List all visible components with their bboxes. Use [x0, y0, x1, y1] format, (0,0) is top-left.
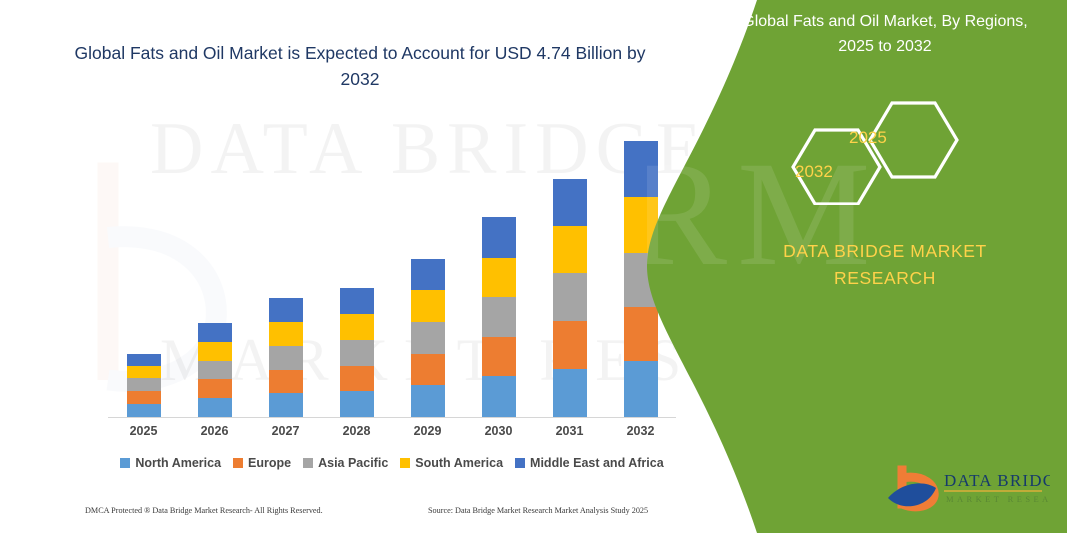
bar-segment-europe — [553, 321, 587, 369]
svg-text:MARKET RESEARCH: MARKET RESEARCH — [946, 494, 1050, 504]
bar-segment-north-america — [269, 393, 303, 417]
bar-segment-middle-east-and-africa — [127, 354, 161, 366]
footer: DMCA Protected ® Data Bridge Market Rese… — [0, 506, 700, 528]
bar-segment-europe — [198, 379, 232, 398]
bar-segment-north-america — [411, 385, 445, 417]
bar-segment-north-america — [198, 398, 232, 417]
legend-label: Europe — [248, 456, 291, 470]
legend-label: Asia Pacific — [318, 456, 388, 470]
bar-segment-middle-east-and-africa — [340, 288, 374, 314]
stacked-bar — [340, 288, 374, 417]
bar-segment-north-america — [553, 369, 587, 418]
chart-pane: DATA BRIDGE MARKET RESEARCH Global Fats … — [0, 0, 720, 533]
legend-label: Middle East and Africa — [530, 456, 664, 470]
bar-column-2031 — [534, 120, 605, 417]
bar-segment-europe — [269, 370, 303, 394]
bar-segment-middle-east-and-africa — [411, 259, 445, 291]
stacked-bar — [553, 179, 587, 417]
bar-column-2030 — [463, 120, 534, 417]
hexagon-2032-label: 2032 — [795, 162, 833, 182]
bar-column-2026 — [179, 120, 250, 417]
bar-segment-south-america — [340, 314, 374, 340]
legend-swatch-icon — [233, 458, 243, 468]
legend-swatch-icon — [400, 458, 410, 468]
hexagon-2025-label: 2025 — [849, 128, 887, 148]
legend-item-middle-east-and-africa[interactable]: Middle East and Africa — [515, 456, 664, 470]
hexagon-group — [767, 95, 1047, 205]
bar-segment-europe — [411, 354, 445, 386]
bar-segment-south-america — [198, 342, 232, 361]
bar-segment-europe — [127, 391, 161, 404]
legend-swatch-icon — [120, 458, 130, 468]
x-axis-label-2029: 2029 — [392, 424, 463, 444]
stacked-bar — [127, 354, 161, 417]
data-bridge-logo: DATA BRIDGE MARKET RESEARCH — [880, 460, 1050, 516]
bar-segment-asia-pacific — [553, 273, 587, 321]
bar-column-2029 — [392, 120, 463, 417]
bar-segment-asia-pacific — [198, 361, 232, 380]
legend-item-south-america[interactable]: South America — [400, 456, 503, 470]
x-axis-label-2028: 2028 — [321, 424, 392, 444]
chart-legend: North AmericaEuropeAsia PacificSouth Ame… — [100, 456, 684, 470]
bar-segment-asia-pacific — [127, 378, 161, 391]
x-axis-label-2030: 2030 — [463, 424, 534, 444]
bar-segment-north-america — [127, 404, 161, 417]
x-axis-label-2025: 2025 — [108, 424, 179, 444]
chart-title: Global Fats and Oil Market is Expected t… — [60, 40, 660, 93]
x-axis-label-2027: 2027 — [250, 424, 321, 444]
bar-segment-asia-pacific — [482, 297, 516, 337]
stacked-bar — [482, 217, 516, 417]
bar-segment-north-america — [482, 376, 516, 417]
stacked-bar — [269, 298, 303, 417]
stacked-bar — [198, 323, 232, 417]
bar-segment-middle-east-and-africa — [553, 179, 587, 226]
legend-item-north-america[interactable]: North America — [120, 456, 221, 470]
legend-item-asia-pacific[interactable]: Asia Pacific — [303, 456, 388, 470]
legend-item-europe[interactable]: Europe — [233, 456, 291, 470]
svg-text:DATA BRIDGE: DATA BRIDGE — [944, 471, 1050, 490]
legend-swatch-icon — [303, 458, 313, 468]
x-axis-label-2026: 2026 — [179, 424, 250, 444]
bar-column-2025 — [108, 120, 179, 417]
panel-title: Global Fats and Oil Market, By Regions, … — [735, 10, 1035, 60]
bar-segment-south-america — [127, 366, 161, 379]
bar-segment-middle-east-and-africa — [269, 298, 303, 322]
green-panel: RM Global Fats and Oil Market, By Region… — [647, 0, 1067, 533]
x-axis-label-2031: 2031 — [534, 424, 605, 444]
bar-segment-south-america — [482, 258, 516, 298]
bar-segment-north-america — [340, 391, 374, 417]
bar-segment-europe — [482, 337, 516, 377]
stacked-bar — [411, 259, 445, 417]
x-axis-labels: 20252026202720282029203020312032 — [108, 424, 676, 444]
stacked-bar-chart — [108, 120, 676, 417]
x-axis-line — [108, 417, 676, 418]
bar-segment-asia-pacific — [269, 346, 303, 370]
legend-label: North America — [135, 456, 221, 470]
infographic-canvas: DATA BRIDGE MARKET RESEARCH Global Fats … — [0, 0, 1067, 533]
footer-source: Source: Data Bridge Market Research Mark… — [428, 506, 648, 515]
panel-brand-text: DATA BRIDGE MARKET RESEARCH — [735, 238, 1035, 292]
bar-segment-south-america — [269, 322, 303, 346]
bar-column-2027 — [250, 120, 321, 417]
bar-segment-middle-east-and-africa — [482, 217, 516, 258]
legend-label: South America — [415, 456, 503, 470]
legend-swatch-icon — [515, 458, 525, 468]
bar-segment-south-america — [411, 290, 445, 322]
bar-segment-middle-east-and-africa — [198, 323, 232, 342]
logo-mark-icon — [888, 470, 936, 507]
bar-segment-asia-pacific — [411, 322, 445, 354]
bar-segment-asia-pacific — [340, 340, 374, 366]
bar-segment-south-america — [553, 226, 587, 274]
footer-copyright: DMCA Protected ® Data Bridge Market Rese… — [85, 506, 323, 515]
bar-segment-europe — [340, 366, 374, 392]
bar-column-2028 — [321, 120, 392, 417]
